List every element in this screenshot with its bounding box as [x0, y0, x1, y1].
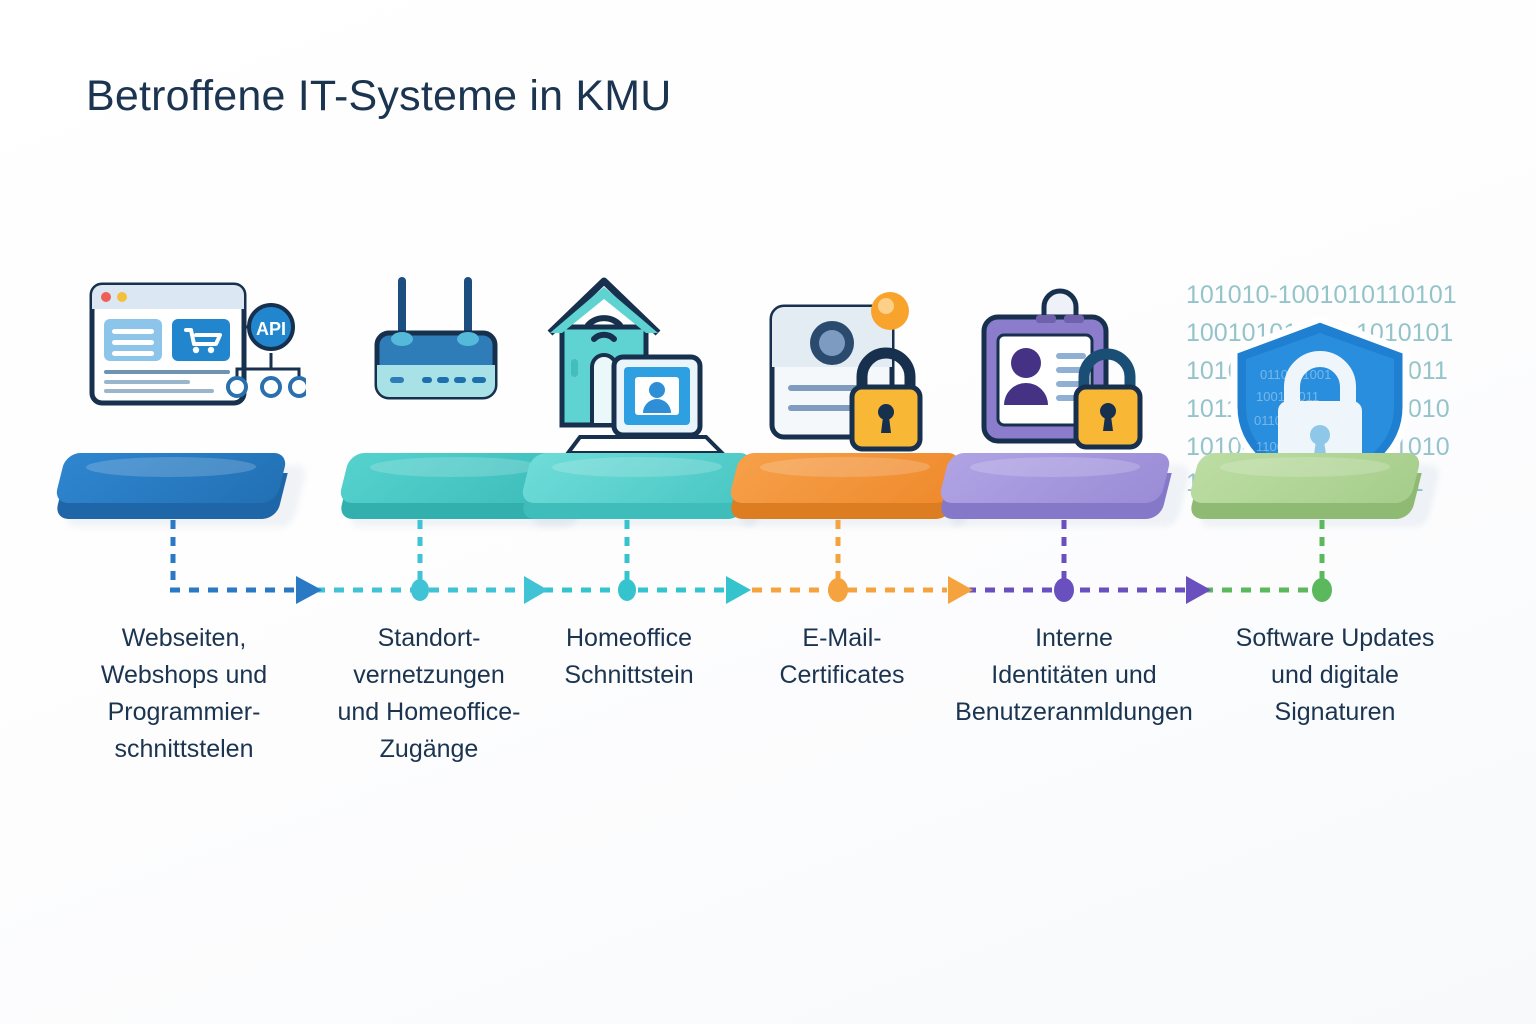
caption-line: Benutzeranmldungen — [955, 694, 1193, 731]
caption-line: E-Mail- — [723, 620, 961, 657]
caption-line: Software Updates — [1216, 620, 1454, 657]
caption-row: Webseiten, Webshops und Programmier- sch… — [0, 620, 1536, 800]
caption-line: und digitale — [1216, 657, 1454, 694]
caption-line: schnittstelen — [65, 731, 303, 768]
caption-line: Programmier- — [65, 694, 303, 731]
step-node-updates[interactable]: 101010-1001010110101 100101011010101 101… — [1190, 255, 1440, 555]
svg-text:API: API — [256, 319, 286, 339]
caption-line: Webseiten, — [65, 620, 303, 657]
step-node-identitaeten[interactable] — [940, 255, 1190, 555]
page-title: Betroffene IT-Systeme in KMU — [86, 72, 672, 121]
caption-line: Signaturen — [1216, 694, 1454, 731]
caption-line: Homeoffice — [510, 620, 748, 657]
step-node-web[interactable]: API — [56, 255, 306, 555]
svg-text:101010-1001010110101: 101010-1001010110101 — [1186, 281, 1457, 309]
caption-web: Webseiten, Webshops und Programmier- sch… — [65, 620, 303, 768]
infographic-page: Betroffene IT-Systeme in KMU — [0, 0, 1536, 1024]
caption-updates: Software Updates und digitale Signaturen — [1216, 620, 1454, 731]
caption-line: und Homeoffice- — [310, 694, 548, 731]
caption-line: Schnittstein — [510, 657, 748, 694]
caption-homeoffice: Homeoffice Schnittstein — [510, 620, 748, 694]
caption-line: Certificates — [723, 657, 961, 694]
caption-email: E-Mail- Certificates — [723, 620, 961, 694]
caption-line: Webshops und — [65, 657, 303, 694]
connector-flow — [0, 520, 1536, 630]
caption-line: Identitäten und — [955, 657, 1193, 694]
caption-identitaeten: Interne Identitäten und Benutzeranmldung… — [955, 620, 1193, 731]
caption-line: Interne — [955, 620, 1193, 657]
caption-line: Zugänge — [310, 731, 548, 768]
